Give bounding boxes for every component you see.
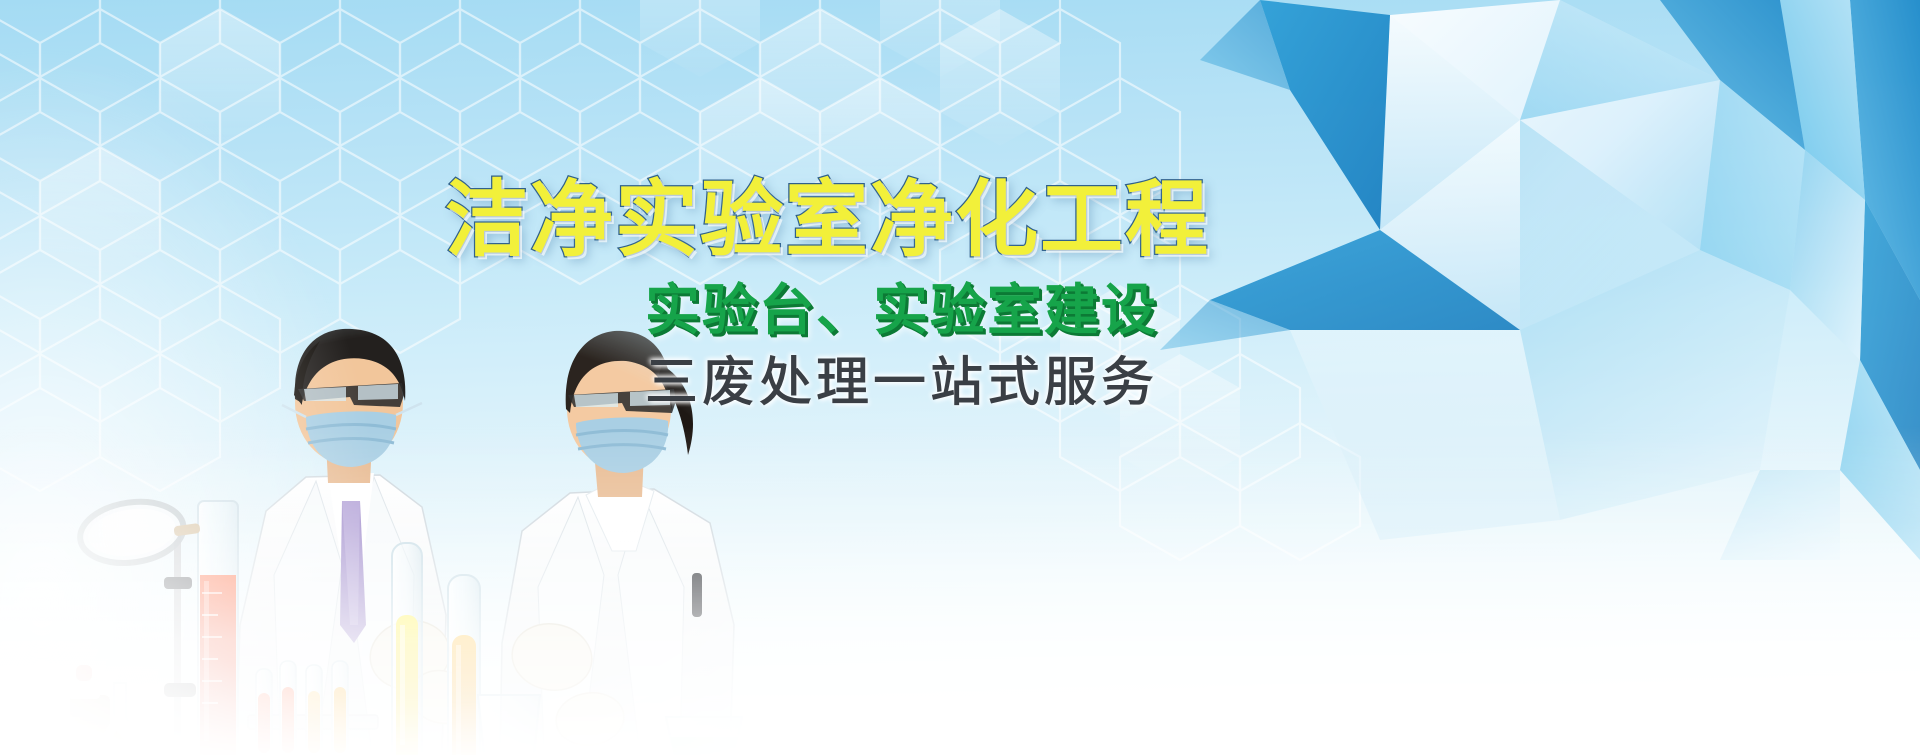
beaker-clear (478, 695, 540, 755)
headline-tagline: 三废处理一站式服务 (645, 356, 1185, 409)
headline-sub: 实验台、实验室建设 (645, 283, 1185, 338)
headline-block: 洁净实验室净化工程 实验台、实验室建设 三废处理一站式服务 (445, 178, 1185, 409)
left-glow (0, 0, 420, 755)
bottom-glow (0, 425, 1920, 755)
male-scientist (236, 329, 479, 755)
erlenmeyer-flask-red (88, 683, 152, 755)
test-tube-rack (248, 661, 378, 755)
promo-banner: 洁净实验室净化工程 实验台、实验室建设 三废处理一站式服务 (0, 0, 1920, 755)
beaker-green (666, 717, 742, 755)
magnifier-stand (76, 493, 203, 755)
test-tube-yellow (392, 543, 422, 755)
headline-main: 洁净实验室净化工程 (445, 178, 1185, 261)
reagent-bottle-brown (70, 665, 110, 755)
graduated-cylinder-red (198, 501, 238, 755)
test-tube-amber (448, 575, 480, 755)
